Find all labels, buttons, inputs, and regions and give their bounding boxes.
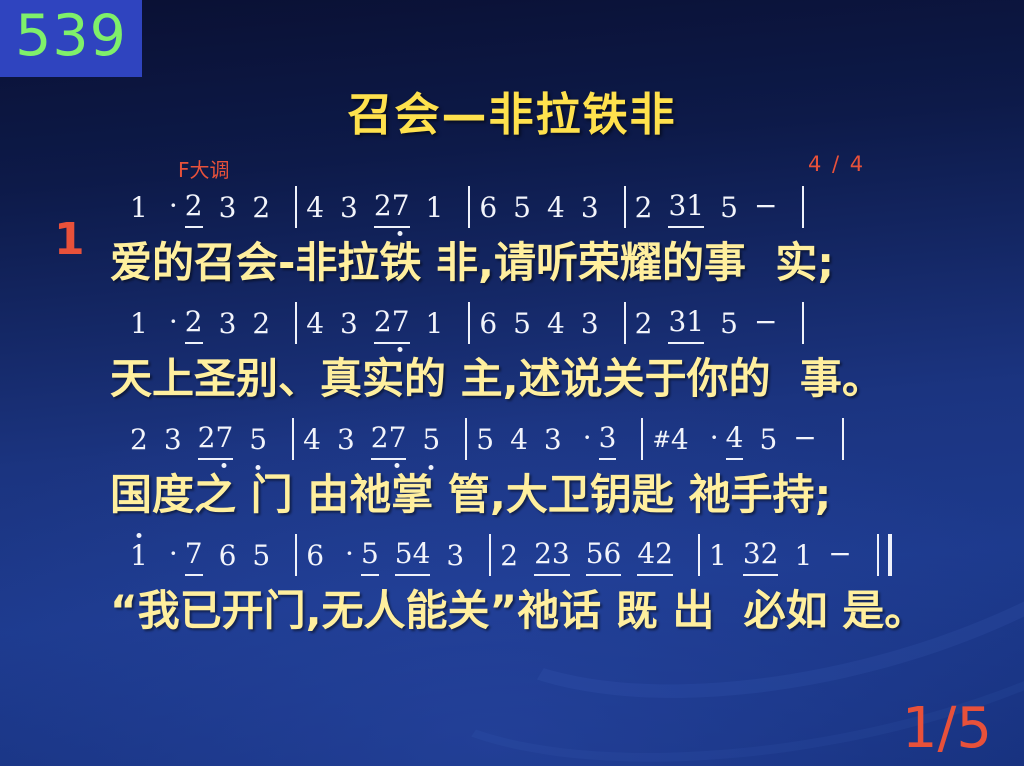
- key-signature: F大调: [178, 154, 230, 183]
- note-6: 6: [479, 310, 497, 344]
- octave-dot-low: [256, 465, 261, 470]
- note-1: 1: [130, 542, 148, 576]
- note-5: 5: [720, 194, 738, 228]
- note-23: 23: [534, 540, 570, 576]
- octave-dot-low: [398, 231, 403, 236]
- note-1: 1: [426, 310, 444, 344]
- note-5: 5: [759, 426, 777, 460]
- note-56: 56: [586, 540, 622, 576]
- note-3: 3: [337, 426, 355, 460]
- note-27: 27: [371, 424, 407, 460]
- note-3: 3: [340, 194, 358, 228]
- lyrics-row-4: “我已开门,无人能关”祂话 既 出 必如 是。: [0, 576, 1024, 646]
- note-6: 6: [306, 542, 324, 576]
- page-title: 召会—非拉铁非: [0, 78, 1024, 143]
- augmentation-dot: ·: [705, 421, 724, 460]
- barline: [842, 418, 844, 460]
- note-5: 5: [476, 426, 494, 460]
- stanza-line-1: 1 1·2324327165432315− 爱的召会-非拉铁 非,请听荣耀的事 …: [0, 182, 1024, 298]
- hymn-number: 539: [15, 8, 127, 69]
- note-6: 6: [479, 194, 497, 228]
- barline: [295, 186, 297, 228]
- final-barline: [877, 534, 892, 576]
- sharp-accidental: #: [652, 428, 670, 453]
- note-1: 1: [426, 194, 444, 228]
- note-2: 2: [635, 310, 653, 344]
- note-2: 2: [500, 542, 518, 576]
- note-5: 5: [422, 426, 440, 460]
- octave-dot-high: [136, 533, 141, 538]
- note-1: 1: [130, 194, 148, 228]
- hymn-number-badge: 539: [0, 0, 142, 77]
- duration-dash: −: [754, 189, 777, 228]
- verse-number: 1: [54, 218, 85, 262]
- barline: [292, 418, 294, 460]
- barline: [641, 418, 643, 460]
- barline: [295, 534, 297, 576]
- stanza-line-4: 1·7656·554322356421321− “我已开门,无人能关”祂话 既 …: [0, 530, 1024, 646]
- time-signature: 4 / 4: [808, 152, 865, 176]
- note-2: 2: [252, 194, 270, 228]
- note-3: 3: [544, 426, 562, 460]
- note-3: 3: [164, 426, 182, 460]
- page-counter: 1/5: [902, 698, 992, 760]
- lyrics-row-3: 国度之 门 由祂掌 管,大卫钥匙 祂手持;: [0, 460, 1024, 530]
- note-27: 27: [374, 192, 410, 228]
- augmentation-dot: ·: [340, 537, 359, 576]
- barline: [468, 186, 470, 228]
- note-3: 3: [581, 194, 599, 228]
- hymn-slide: 539 召会—非拉铁非 F大调 4 / 4 1 1·23243271654323…: [0, 0, 1024, 766]
- note-4: 4: [306, 194, 324, 228]
- note-2: 2: [185, 308, 203, 344]
- barline: [489, 534, 491, 576]
- note-1: 1: [794, 542, 812, 576]
- note-3: 3: [340, 310, 358, 344]
- augmentation-dot: ·: [164, 537, 183, 576]
- note-sharp4: #4: [652, 426, 688, 460]
- note-5: 5: [361, 540, 379, 576]
- note-3: 3: [581, 310, 599, 344]
- note-3: 3: [446, 542, 464, 576]
- note-1: 1: [709, 542, 727, 576]
- note-4: 4: [303, 426, 321, 460]
- augmentation-dot: ·: [578, 421, 597, 460]
- note-5: 5: [513, 310, 531, 344]
- lyrics-row-2: 天上圣别、真实的 主,述说关于你的 事。: [0, 344, 1024, 414]
- note-27: 27: [374, 308, 410, 344]
- note-5: 5: [249, 426, 267, 460]
- notation-row-1: 1·2324327165432315−: [0, 182, 1024, 228]
- octave-dot-low: [429, 465, 434, 470]
- barline: [465, 418, 467, 460]
- note-3: 3: [219, 310, 237, 344]
- barline: [802, 186, 804, 228]
- barline: [295, 302, 297, 344]
- duration-dash: −: [793, 421, 816, 460]
- note-5: 5: [513, 194, 531, 228]
- octave-dot-low: [222, 463, 227, 468]
- barline: [624, 186, 626, 228]
- note-2: 2: [185, 192, 203, 228]
- note-3: 3: [219, 194, 237, 228]
- notation-row-3: 2327543275543·3#4·45−: [0, 414, 1024, 460]
- note-54: 54: [395, 540, 431, 576]
- augmentation-dot: ·: [164, 189, 183, 228]
- stanza-line-2: 1·2324327165432315− 天上圣别、真实的 主,述说关于你的 事。: [0, 298, 1024, 414]
- note-5: 5: [720, 310, 738, 344]
- note-4: 4: [306, 310, 324, 344]
- note-31: 31: [668, 308, 704, 344]
- note-2: 2: [635, 194, 653, 228]
- duration-dash: −: [828, 537, 851, 576]
- note-7: 7: [185, 540, 203, 576]
- notation-row-2: 1·2324327165432315−: [0, 298, 1024, 344]
- note-4: 4: [726, 424, 744, 460]
- lyrics-row-1: 爱的召会-非拉铁 非,请听荣耀的事 实;: [0, 228, 1024, 298]
- note-1: 1: [130, 310, 148, 344]
- music-body: 1 1·2324327165432315− 爱的召会-非拉铁 非,请听荣耀的事 …: [0, 182, 1024, 646]
- note-2: 2: [130, 426, 148, 460]
- note-31: 31: [668, 192, 704, 228]
- barline: [698, 534, 700, 576]
- note-4: 4: [547, 310, 565, 344]
- augmentation-dot: ·: [164, 305, 183, 344]
- barline: [468, 302, 470, 344]
- notation-row-4: 1·7656·554322356421321−: [0, 530, 1024, 576]
- note-32: 32: [743, 540, 779, 576]
- note-42: 42: [637, 540, 673, 576]
- note-4: 4: [510, 426, 528, 460]
- octave-dot-low: [398, 347, 403, 352]
- note-6: 6: [219, 542, 237, 576]
- barline: [802, 302, 804, 344]
- note-2: 2: [252, 310, 270, 344]
- barline: [624, 302, 626, 344]
- note-27: 27: [198, 424, 234, 460]
- note-3: 3: [599, 424, 617, 460]
- octave-dot-low: [395, 463, 400, 468]
- note-4: 4: [547, 194, 565, 228]
- stanza-line-3: 2327543275543·3#4·45− 国度之 门 由祂掌 管,大卫钥匙 祂…: [0, 414, 1024, 530]
- duration-dash: −: [754, 305, 777, 344]
- note-5: 5: [252, 542, 270, 576]
